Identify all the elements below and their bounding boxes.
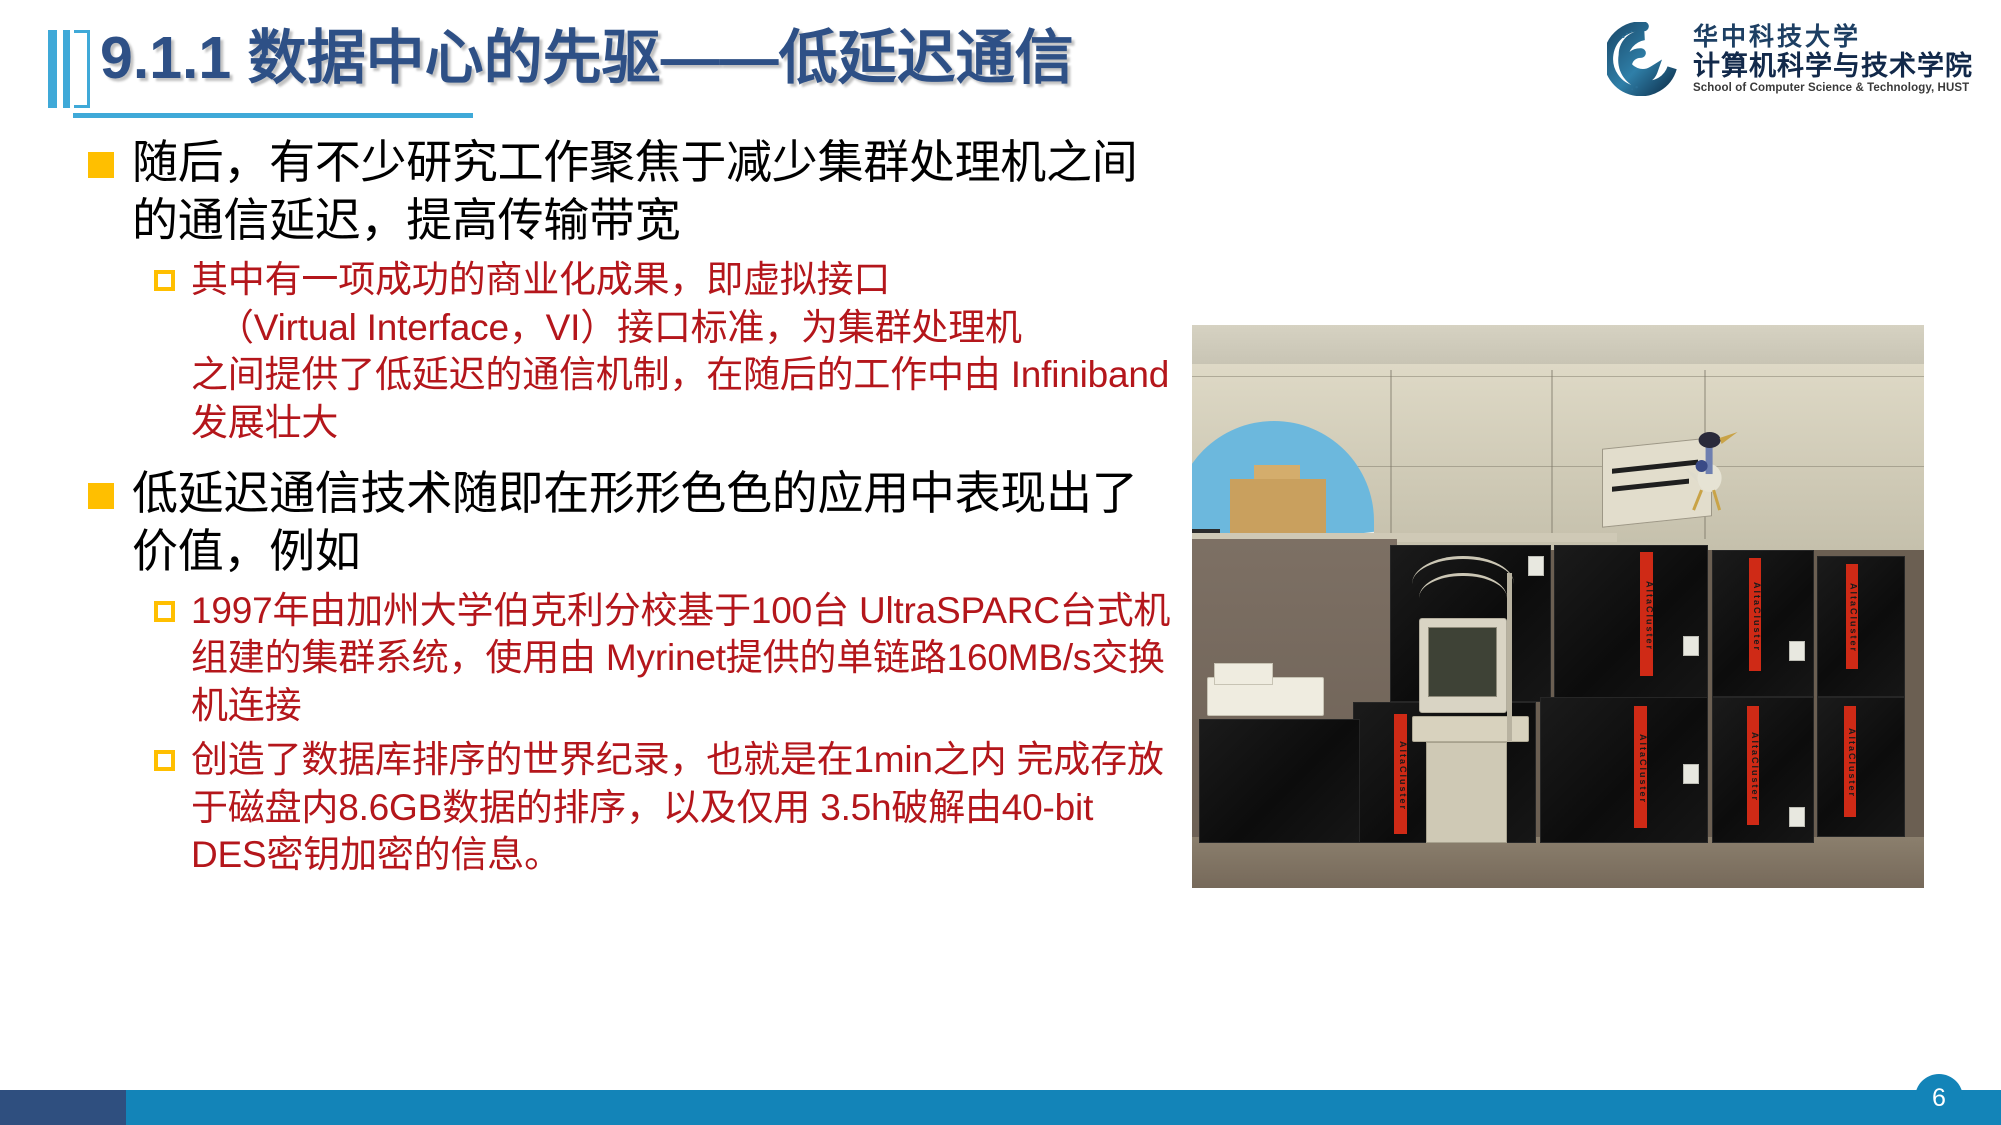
cable-bundle: [1419, 573, 1507, 624]
rack-label: AltaCluster: [1640, 552, 1653, 677]
bullet-level2: 其中有一项成功的商业化成果，即虚拟接口 （Virtual Interface，V…: [154, 256, 1178, 447]
bullet-level2: 创造了数据库排序的世界纪录，也就是在1min之内 完成存放于磁盘内8.6GB数据…: [154, 736, 1178, 879]
photo-ceiling: [1192, 325, 1924, 370]
bullet-level2: 1997年由加州大学伯克利分校基于100台 UltraSPARC台式机组建的集群…: [154, 587, 1178, 730]
rack-label: AltaCluster: [1394, 714, 1407, 833]
bullet-level1: 随后，有不少研究工作聚焦于减少集群处理机之间的通信延迟，提高传输带宽: [88, 134, 1178, 250]
server-rack: AltaCluster: [1712, 550, 1814, 696]
server-rack: [1199, 719, 1360, 843]
bullet-level1-text: 低延迟通信技术随即在形形色色的应用中表现出了价值，例如: [132, 465, 1178, 581]
rack-tag: [1683, 764, 1699, 784]
slide-title-row: 9.1.1 数据中心的先驱——低延迟通信: [48, 28, 1074, 108]
wall-seam-vertical: [1551, 370, 1553, 539]
decoration-bar-1: [48, 30, 57, 108]
roadrunner-figurine-icon: [1675, 426, 1748, 516]
rack-label: AltaCluster: [1634, 706, 1647, 827]
title-decoration-icon: [48, 30, 94, 108]
wall-seam-vertical: [1390, 370, 1392, 539]
console-pedestal: [1426, 742, 1507, 843]
bullet-level1-text: 随后，有不少研究工作聚焦于减少集群处理机之间的通信延迟，提高传输带宽: [132, 134, 1178, 250]
bullet-level2-text: 其中有一项成功的商业化成果，即虚拟接口 （Virtual Interface，V…: [191, 256, 1178, 447]
sub-line: 其中有一项成功的商业化成果，即虚拟接口: [191, 259, 890, 300]
swirl-logo-icon: [1607, 22, 1681, 96]
sublist-2: 1997年由加州大学伯克利分校基于100台 UltraSPARC台式机组建的集群…: [154, 587, 1178, 879]
rack-label: AltaCluster: [1747, 706, 1759, 824]
photo-floor: [1192, 837, 1924, 888]
logo-university-name: 华中科技大学: [1693, 24, 1973, 52]
sub-line: 创造了数据库排序的世界纪录，也就是在1min之内: [191, 739, 1006, 780]
sub-line: （Virtual Interface，VI）接口标准，为集群处理机: [191, 304, 1178, 352]
cluster-photo: AltaCluster AltaCluster AltaCluster Alta…: [1192, 325, 1924, 888]
rack-tag: [1789, 807, 1805, 827]
logo-text-block: 华中科技大学 计算机科学与技术学院 School of Computer Sci…: [1693, 24, 1973, 94]
server-rack: AltaCluster: [1817, 697, 1905, 838]
sublist-1: 其中有一项成功的商业化成果，即虚拟接口 （Virtual Interface，V…: [154, 256, 1178, 447]
square-bullet-icon: [88, 152, 114, 178]
equipment-box-small: [1214, 663, 1273, 686]
logo-english-name: School of Computer Science & Technology,…: [1693, 82, 1973, 95]
server-rack: AltaCluster: [1817, 556, 1905, 697]
decoration-box: [74, 30, 90, 108]
footer-bar-left: [0, 1090, 126, 1125]
slide-content: 随后，有不少研究工作聚焦于减少集群处理机之间的通信延迟，提高传输带宽 其中有一项…: [88, 134, 1178, 885]
monitor-arm: [1507, 573, 1529, 742]
sub-line: 1997年由加州大学伯克利分校基于100台: [191, 590, 849, 631]
footer-bar: [126, 1090, 2001, 1125]
wall-seam: [1192, 376, 1924, 377]
title-underline: [73, 113, 473, 118]
presentation-slide: 9.1.1 数据中心的先驱——低延迟通信 华中科技大学 计算机科学与技术学院: [0, 0, 2001, 1125]
bullet-level2-text: 1997年由加州大学伯克利分校基于100台 UltraSPARC台式机组建的集群…: [191, 587, 1178, 730]
server-rack: AltaCluster: [1540, 697, 1708, 843]
server-rack: AltaCluster: [1712, 697, 1814, 843]
server-rack: AltaCluster: [1554, 545, 1708, 703]
bullet-level2-text: 创造了数据库排序的世界纪录，也就是在1min之内 完成存放于磁盘内8.6GB数据…: [191, 736, 1178, 879]
sub-line: 之间提供了低延迟的通信机制，在随后的工作中由: [191, 354, 1001, 395]
square-bullet-icon: [88, 483, 114, 509]
logo-school-name: 计算机科学与技术学院: [1693, 52, 1973, 80]
bullet-level1: 低延迟通信技术随即在形形色色的应用中表现出了价值，例如: [88, 465, 1178, 581]
rack-tag: [1528, 556, 1544, 576]
rack-tag: [1789, 641, 1805, 661]
hollow-square-bullet-icon: [154, 270, 175, 291]
rack-label: AltaCluster: [1749, 558, 1761, 671]
rack-tag: [1683, 636, 1699, 656]
monitor-screen: [1428, 627, 1497, 697]
page-number-badge: 6: [1915, 1074, 1963, 1122]
rack-label: AltaCluster: [1846, 564, 1858, 669]
rack-label: AltaCluster: [1844, 706, 1856, 817]
hust-logo: 华中科技大学 计算机科学与技术学院 School of Computer Sci…: [1607, 22, 1973, 96]
hollow-square-bullet-icon: [154, 601, 175, 622]
page-title: 9.1.1 数据中心的先驱——低延迟通信: [100, 28, 1074, 90]
decoration-bar-2: [63, 30, 70, 108]
hollow-square-bullet-icon: [154, 750, 175, 771]
